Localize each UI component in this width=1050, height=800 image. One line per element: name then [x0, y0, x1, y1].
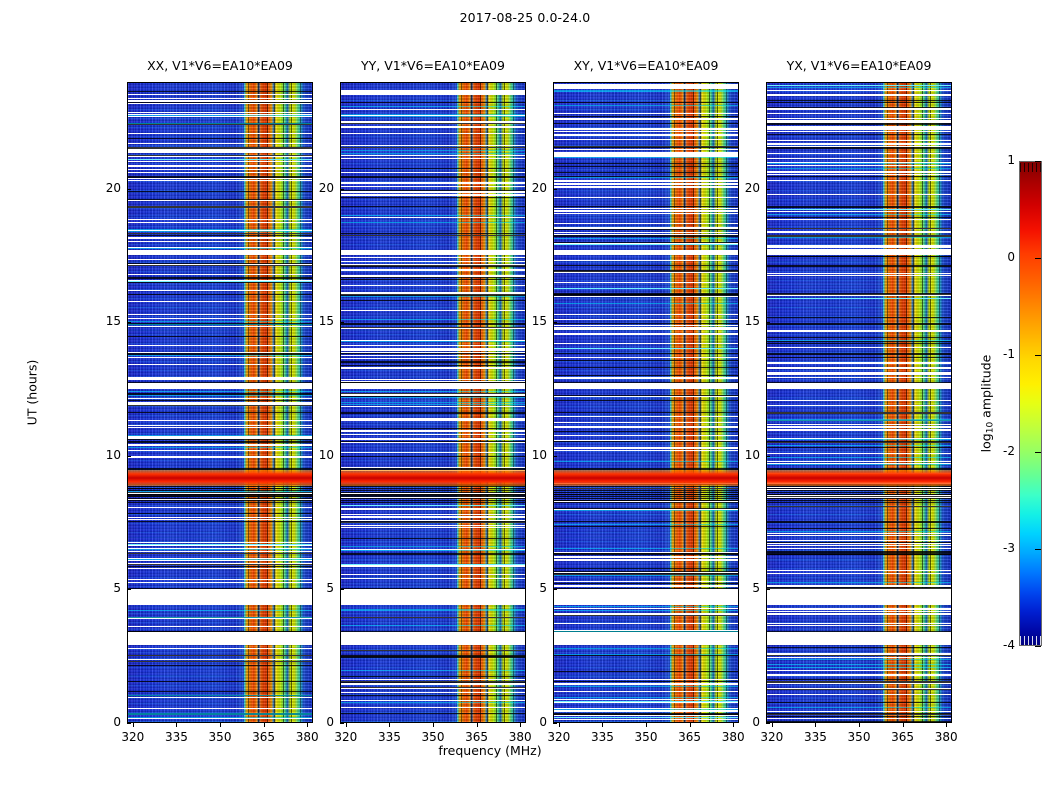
- elevated-row: [128, 281, 312, 282]
- scan-boundary-row: [128, 400, 312, 401]
- y-tick-label: 0: [306, 715, 334, 729]
- colorbar-extend-bottom: [1020, 636, 1041, 645]
- scan-boundary-row: [341, 657, 525, 658]
- flagged-row: [554, 118, 738, 120]
- elevated-row: [767, 214, 951, 215]
- scan-boundary-row: [341, 123, 525, 124]
- elevated-row: [767, 457, 951, 458]
- flagged-row: [128, 151, 312, 153]
- flagged-row: [128, 112, 312, 113]
- elevated-row: [341, 341, 525, 342]
- flagged-row: [767, 246, 951, 248]
- scan-boundary-row: [341, 362, 525, 363]
- waterfall-panel-yy[interactable]: [340, 82, 526, 723]
- scan-boundary-row: [767, 353, 951, 355]
- flagged-row: [554, 325, 738, 326]
- scan-boundary-row: [128, 155, 312, 156]
- scan-boundary-row: [767, 323, 951, 325]
- x-tick-label: 320: [116, 730, 150, 744]
- y-tick-label: 15: [519, 314, 547, 328]
- scan-boundary-row: [767, 217, 951, 218]
- x-tick-label: 365: [460, 730, 494, 744]
- flagged-row: [767, 426, 951, 427]
- flagged-row: [128, 425, 312, 426]
- elevated-row: [767, 582, 951, 583]
- scan-boundary-row: [341, 681, 525, 683]
- flagged-row: [128, 94, 312, 95]
- figure-suptitle: 2017-08-25 0.0-24.0: [0, 10, 1050, 25]
- flagged-row: [341, 186, 525, 187]
- flagged-row: [554, 149, 738, 150]
- flagged-row: [128, 290, 312, 291]
- flagged-row: [341, 367, 525, 369]
- scan-boundary-row: [554, 615, 738, 616]
- scan-boundary-row: [554, 395, 738, 396]
- burst-striping-row: [341, 498, 525, 499]
- x-tick-label: 350: [203, 730, 237, 744]
- flagged-row: [554, 711, 738, 712]
- data-gap: [341, 589, 525, 605]
- data-gap: [554, 250, 738, 255]
- burst-striping-row: [554, 494, 738, 495]
- flagged-row: [767, 405, 951, 406]
- elevated-row: [554, 157, 738, 158]
- scan-boundary-row: [767, 716, 951, 717]
- scan-boundary-row: [767, 506, 951, 507]
- scan-boundary-row: [128, 147, 312, 149]
- scan-boundary-row: [341, 168, 525, 169]
- scan-boundary-row: [128, 405, 312, 406]
- scan-boundary-row: [767, 655, 951, 656]
- scan-boundary-row: [554, 583, 738, 584]
- x-tick-label: 365: [247, 730, 281, 744]
- flagged-row: [767, 140, 951, 141]
- panel-title-xy: XY, V1*V6=EA10*EA09: [553, 58, 739, 73]
- scan-boundary-row: [767, 679, 951, 680]
- elevated-row: [128, 617, 312, 618]
- flagged-row: [554, 422, 738, 423]
- elevated-row: [767, 163, 951, 164]
- flagged-row: [554, 180, 738, 182]
- flagged-row: [767, 211, 951, 212]
- y-tick-mark: [553, 456, 557, 457]
- flagged-row: [341, 565, 525, 567]
- scan-boundary-row: [341, 456, 525, 457]
- flagged-row: [767, 90, 951, 91]
- scan-boundary-row: [128, 282, 312, 283]
- scan-boundary-row: [767, 317, 951, 318]
- elevated-row: [554, 717, 738, 718]
- flagged-row: [767, 461, 951, 462]
- elevated-row: [128, 355, 312, 356]
- scan-boundary-row: [767, 123, 951, 125]
- scan-boundary-row: [554, 270, 738, 271]
- scan-boundary-row: [128, 691, 312, 692]
- scan-boundary-row: [767, 343, 951, 344]
- scan-boundary-row: [554, 271, 738, 272]
- elevated-row: [341, 391, 525, 392]
- burst-striping-row: [128, 494, 312, 495]
- colorbar-tick-label: 1: [989, 153, 1015, 167]
- flagged-row: [767, 153, 951, 154]
- waterfall-channel-layer: [767, 83, 951, 722]
- data-gap: [767, 589, 951, 605]
- burst-striping-row: [341, 492, 525, 493]
- scan-boundary-row: [554, 367, 738, 368]
- data-gap: [554, 383, 738, 388]
- scan-boundary-row: [341, 441, 525, 442]
- scan-boundary-row: [767, 702, 951, 703]
- elevated-row: [554, 575, 738, 576]
- scan-boundary-row: [767, 228, 951, 229]
- elevated-row: [341, 625, 525, 626]
- colorbar-extend-top: [1020, 163, 1041, 172]
- flagged-row: [767, 657, 951, 658]
- scan-boundary-row: [767, 341, 951, 342]
- flagged-row: [554, 448, 738, 449]
- x-tick-label: 380: [290, 730, 324, 744]
- y-tick-mark: [553, 589, 557, 590]
- elevated-row: [341, 222, 525, 223]
- data-gap: [128, 383, 312, 388]
- scan-boundary-row: [128, 235, 312, 236]
- y-tick-mark: [766, 456, 770, 457]
- panel-title-xx: XX, V1*V6=EA10*EA09: [127, 58, 313, 73]
- flagged-row: [554, 691, 738, 692]
- scan-boundary-row: [554, 146, 738, 147]
- data-gap: [128, 250, 312, 255]
- flagged-row: [341, 195, 525, 196]
- scan-boundary-row: [554, 360, 738, 361]
- x-tick-label: 350: [629, 730, 663, 744]
- x-tick-mark: [220, 723, 221, 727]
- flagged-row: [341, 418, 525, 419]
- scan-boundary-row: [128, 439, 312, 440]
- flagged-row: [128, 326, 312, 327]
- waterfall-channel-layer: [554, 83, 738, 722]
- flagged-row: [767, 573, 951, 574]
- flagged-row: [128, 237, 312, 239]
- y-tick-label: 5: [93, 581, 121, 595]
- scan-boundary-row: [767, 102, 951, 103]
- scan-boundary-row: [767, 713, 951, 715]
- scan-boundary-row: [554, 431, 738, 432]
- scan-boundary-row: [554, 235, 738, 237]
- x-tick-mark: [859, 723, 860, 727]
- scan-boundary-row: [554, 521, 738, 522]
- flagged-row: [767, 718, 951, 719]
- flagged-row: [341, 358, 525, 359]
- elevated-row: [554, 91, 738, 92]
- waterfall-panel-xx[interactable]: [127, 82, 313, 723]
- elevated-row: [128, 115, 312, 116]
- flagged-row: [767, 430, 951, 431]
- colorbar-tick-mark: [1035, 161, 1041, 162]
- flagged-row: [341, 350, 525, 351]
- elevated-row: [128, 717, 312, 718]
- elevated-row: [767, 439, 951, 440]
- elevated-row: [554, 105, 738, 106]
- scan-boundary-row: [554, 323, 738, 324]
- scan-boundary-row: [554, 553, 738, 554]
- scan-boundary-row: [554, 242, 738, 243]
- flagged-row: [341, 439, 525, 440]
- colorbar-tick-label: -3: [989, 541, 1015, 555]
- flagged-row: [554, 197, 738, 198]
- x-tick-mark: [903, 723, 904, 727]
- x-tick-mark: [520, 723, 521, 727]
- y-tick-mark: [127, 456, 131, 457]
- flagged-row: [767, 165, 951, 166]
- scan-boundary-row: [767, 134, 951, 135]
- waterfall-panel-xy[interactable]: [553, 82, 739, 723]
- scan-boundary-row: [341, 197, 525, 198]
- x-tick-label: 335: [798, 730, 832, 744]
- elevated-row: [767, 445, 951, 446]
- data-gap: [767, 250, 951, 255]
- burst-striping-row: [128, 486, 312, 487]
- scan-boundary-row: [554, 568, 738, 569]
- elevated-row: [128, 395, 312, 396]
- burst-striping-row: [767, 498, 951, 499]
- flagged-row: [767, 108, 951, 110]
- scan-boundary-row: [128, 566, 312, 567]
- flagged-row: [341, 700, 525, 701]
- y-tick-mark: [553, 189, 557, 190]
- flagged-row: [554, 260, 738, 261]
- scan-boundary-row: [128, 513, 312, 514]
- colorbar-tick-label: -2: [989, 444, 1015, 458]
- flagged-row: [341, 574, 525, 575]
- y-tick-label: 15: [732, 314, 760, 328]
- scan-boundary-row: [128, 665, 312, 666]
- flagged-row: [554, 134, 738, 136]
- scan-boundary-row: [341, 617, 525, 618]
- data-gap: [554, 632, 738, 645]
- flagged-row: [767, 374, 951, 375]
- flagged-row: [341, 133, 525, 134]
- elevated-row: [341, 505, 525, 506]
- flagged-row: [554, 186, 738, 188]
- scan-boundary-row: [554, 400, 738, 401]
- elevated-row: [554, 686, 738, 687]
- flagged-row: [554, 314, 738, 315]
- elevated-row: [128, 159, 312, 160]
- x-tick-mark: [690, 723, 691, 727]
- x-tick-mark: [477, 723, 478, 727]
- x-tick-mark: [646, 723, 647, 727]
- flagged-row: [767, 367, 951, 369]
- flagged-row: [341, 90, 525, 92]
- scan-boundary-row: [767, 441, 951, 443]
- scan-boundary-row: [128, 177, 312, 178]
- scan-boundary-row: [128, 102, 312, 103]
- flagged-row: [341, 285, 525, 286]
- scan-boundary-row: [341, 656, 525, 657]
- scan-boundary-row: [767, 412, 951, 414]
- scan-boundary-row: [128, 294, 312, 295]
- flagged-row: [554, 210, 738, 212]
- y-tick-mark: [553, 322, 557, 323]
- elevated-row: [128, 435, 312, 436]
- y-tick-mark: [766, 322, 770, 323]
- elevated-row: [554, 177, 738, 178]
- x-tick-label: 320: [329, 730, 363, 744]
- flagged-row: [128, 551, 312, 552]
- burst-striping-row: [341, 490, 525, 491]
- burst-striping-row: [341, 488, 525, 489]
- scan-boundary-row: [341, 713, 525, 714]
- flagged-row: [128, 165, 312, 166]
- scan-boundary-row: [554, 375, 738, 376]
- elevated-row: [554, 524, 738, 525]
- burst-striping-row: [128, 498, 312, 499]
- flagged-row: [128, 398, 312, 399]
- flagged-row: [128, 103, 312, 104]
- flagged-row: [341, 379, 525, 380]
- flagged-row: [341, 217, 525, 218]
- flagged-row: [554, 343, 738, 344]
- flagged-row: [128, 377, 312, 379]
- y-tick-label: 10: [306, 448, 334, 462]
- elevated-row: [554, 654, 738, 655]
- scan-boundary-row: [767, 689, 951, 690]
- flagged-row: [128, 582, 312, 583]
- scan-boundary-row: [341, 521, 525, 523]
- burst-striping-row: [554, 498, 738, 499]
- flagged-row: [341, 94, 525, 95]
- y-tick-label: 10: [732, 448, 760, 462]
- scan-boundary-row: [128, 655, 312, 656]
- scan-boundary-row: [341, 538, 525, 539]
- y-tick-label: 0: [519, 715, 547, 729]
- elevated-row: [341, 610, 525, 611]
- scan-boundary-row: [341, 176, 525, 178]
- burst-striping-row: [128, 490, 312, 491]
- flagged-row: [128, 697, 312, 698]
- scan-boundary-row: [554, 116, 738, 117]
- scan-boundary-row: [554, 163, 738, 164]
- scan-boundary-row: [341, 695, 525, 696]
- scan-boundary-row: [341, 553, 525, 555]
- flagged-row: [554, 581, 738, 582]
- flagged-row: [128, 568, 312, 569]
- flagged-row: [128, 519, 312, 520]
- y-tick-label: 5: [519, 581, 547, 595]
- scan-boundary-row: [128, 553, 312, 554]
- burst-striping-row: [554, 490, 738, 491]
- flagged-row: [554, 719, 738, 720]
- flagged-row: [128, 156, 312, 157]
- elevated-row: [341, 402, 525, 403]
- flagged-row: [341, 155, 525, 156]
- x-tick-mark: [559, 723, 560, 727]
- data-gap: [341, 250, 525, 255]
- scan-boundary-row: [341, 676, 525, 677]
- scan-boundary-row: [767, 176, 951, 177]
- y-tick-mark: [340, 456, 344, 457]
- waterfall-panel-yx[interactable]: [766, 82, 952, 723]
- elevated-row: [767, 667, 951, 668]
- flagged-row: [767, 548, 951, 549]
- scan-boundary-row: [341, 300, 525, 301]
- flagged-row: [554, 427, 738, 428]
- scan-boundary-row: [767, 337, 951, 338]
- flagged-row: [128, 427, 312, 428]
- x-tick-label: 365: [673, 730, 707, 744]
- colorbar-tick-mark: [1035, 258, 1041, 259]
- burst-striping-row: [341, 502, 525, 503]
- data-gap: [767, 383, 951, 388]
- flagged-row: [554, 128, 738, 130]
- elevated-row: [554, 348, 738, 349]
- y-axis-label: UT (hours): [25, 333, 40, 453]
- scan-boundary-row: [767, 147, 951, 149]
- flagged-row: [128, 200, 312, 201]
- flagged-row: [128, 301, 312, 302]
- x-tick-mark: [772, 723, 773, 727]
- x-tick-label: 380: [716, 730, 750, 744]
- scan-boundary-row: [341, 102, 525, 103]
- flagged-row: [128, 180, 312, 181]
- x-tick-mark: [133, 723, 134, 727]
- y-tick-label: 15: [306, 314, 334, 328]
- scan-boundary-row: [554, 508, 738, 509]
- flagged-row: [554, 282, 738, 283]
- elevated-row: [341, 153, 525, 154]
- elevated-row: [341, 114, 525, 115]
- flagged-row: [341, 578, 525, 579]
- flagged-row: [767, 543, 951, 544]
- flagged-row: [554, 435, 738, 436]
- scan-boundary-row: [341, 235, 525, 236]
- scan-boundary-row: [554, 353, 738, 354]
- scan-boundary-row: [767, 357, 951, 358]
- flagged-row: [767, 694, 951, 695]
- elevated-row: [554, 648, 738, 649]
- scan-boundary-row: [341, 323, 525, 325]
- flagged-row: [341, 525, 525, 526]
- elevated-row: [341, 106, 525, 107]
- x-tick-mark: [946, 723, 947, 727]
- y-tick-label: 5: [306, 581, 334, 595]
- elevated-row: [128, 610, 312, 611]
- elevated-row: [554, 606, 738, 607]
- y-tick-mark: [127, 589, 131, 590]
- flagged-row: [341, 508, 525, 510]
- scan-boundary-row: [128, 91, 312, 92]
- elevated-row: [128, 695, 312, 696]
- colorbar-label-subscript: 10: [986, 422, 996, 433]
- y-tick-label: 15: [93, 314, 121, 328]
- flagged-row: [128, 718, 312, 719]
- flagged-row: [554, 377, 738, 379]
- elevated-row: [128, 229, 312, 230]
- flagged-row: [341, 158, 525, 159]
- flagged-row: [767, 174, 951, 175]
- scan-boundary-row: [128, 206, 312, 208]
- burst-striping-row: [554, 488, 738, 489]
- flagged-row: [341, 679, 525, 680]
- elevated-row: [341, 546, 525, 547]
- x-tick-mark: [346, 723, 347, 727]
- elevated-row: [767, 707, 951, 708]
- flagged-row: [767, 453, 951, 454]
- elevated-row: [767, 340, 951, 341]
- scan-boundary-row: [554, 441, 738, 442]
- flagged-row: [767, 535, 951, 536]
- scan-boundary-row: [128, 336, 312, 337]
